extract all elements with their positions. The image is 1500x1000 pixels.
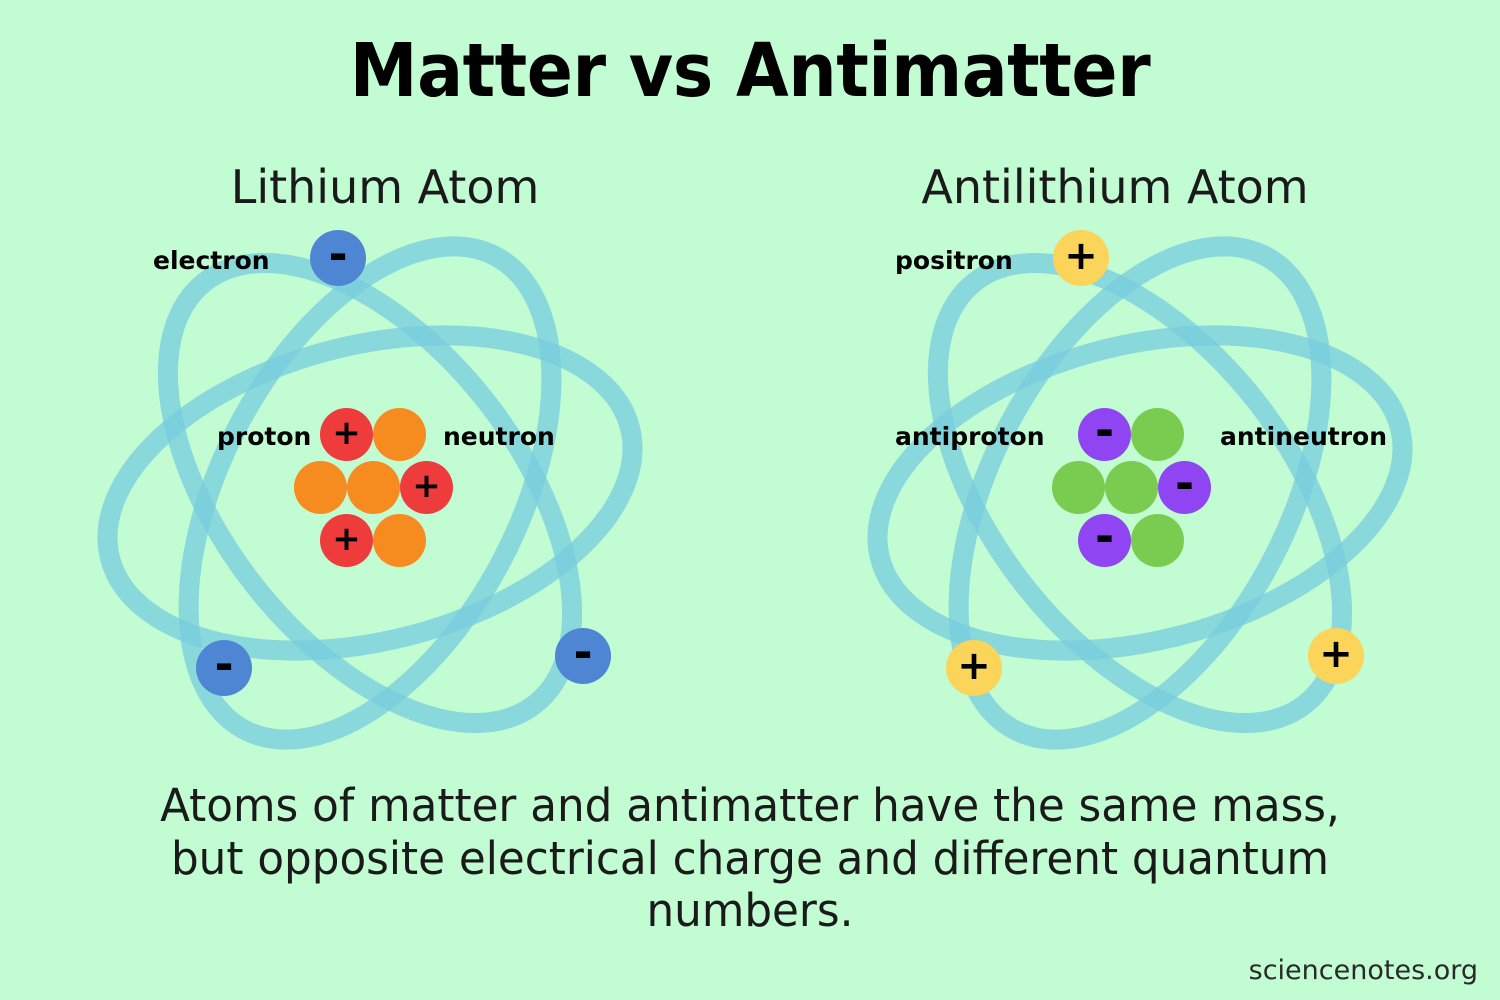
charge-sign: - xyxy=(1095,513,1114,559)
charge-sign: + xyxy=(332,416,361,450)
charge-sign: + xyxy=(1064,236,1098,276)
neutron-mid-center xyxy=(347,461,400,514)
charge-sign: + xyxy=(332,522,361,556)
neutron-top xyxy=(373,408,426,461)
charge-sign: - xyxy=(1175,460,1194,506)
panel-heading-antilithium: Antilithium Atom xyxy=(805,160,1425,214)
electron-top: - xyxy=(310,230,366,286)
charge-sign: - xyxy=(214,641,233,687)
charge-sign: - xyxy=(328,231,347,277)
panel-heading-lithium: Lithium Atom xyxy=(75,160,695,214)
label-proton: proton xyxy=(217,422,311,451)
antineutron-bottom xyxy=(1131,514,1184,567)
proton-bottom: + xyxy=(320,514,373,567)
label-antineutron: antineutron xyxy=(1220,422,1387,451)
caption-text: Atoms of matter and antimatter have the … xyxy=(129,780,1371,938)
attribution-text: sciencenotes.org xyxy=(1249,955,1478,986)
charge-sign: + xyxy=(412,469,441,503)
atom-diagram-lithium: - - - + + + electron proton neutr xyxy=(60,228,680,758)
electron-bottom-right: - xyxy=(555,628,611,684)
positron-bottom-right: + xyxy=(1308,628,1364,684)
neutron-mid-left xyxy=(294,461,347,514)
positron-top: + xyxy=(1053,230,1109,286)
infographic-poster: Matter vs Antimatter Lithium Atom - - - … xyxy=(0,0,1500,1000)
charge-sign: - xyxy=(573,629,592,675)
proton-top: + xyxy=(320,408,373,461)
atom-diagram-antilithium: + + + - - - positron antiproton a xyxy=(830,228,1450,758)
page-title: Matter vs Antimatter xyxy=(60,28,1440,114)
antineutron-mid-left xyxy=(1052,461,1105,514)
charge-sign: + xyxy=(957,646,991,686)
antiproton-top: - xyxy=(1078,408,1131,461)
antineutron-top xyxy=(1131,408,1184,461)
label-electron: electron xyxy=(153,246,270,275)
label-antiproton: antiproton xyxy=(895,422,1045,451)
charge-sign: - xyxy=(1095,407,1114,453)
electron-bottom-left: - xyxy=(196,640,252,696)
neutron-bottom xyxy=(373,514,426,567)
antineutron-mid-center xyxy=(1105,461,1158,514)
label-positron: positron xyxy=(895,246,1013,275)
antiproton-bottom: - xyxy=(1078,514,1131,567)
positron-bottom-left: + xyxy=(946,640,1002,696)
label-neutron: neutron xyxy=(443,422,555,451)
proton-mid-right: + xyxy=(400,461,453,514)
charge-sign: + xyxy=(1319,634,1353,674)
antiproton-mid-right: - xyxy=(1158,461,1211,514)
